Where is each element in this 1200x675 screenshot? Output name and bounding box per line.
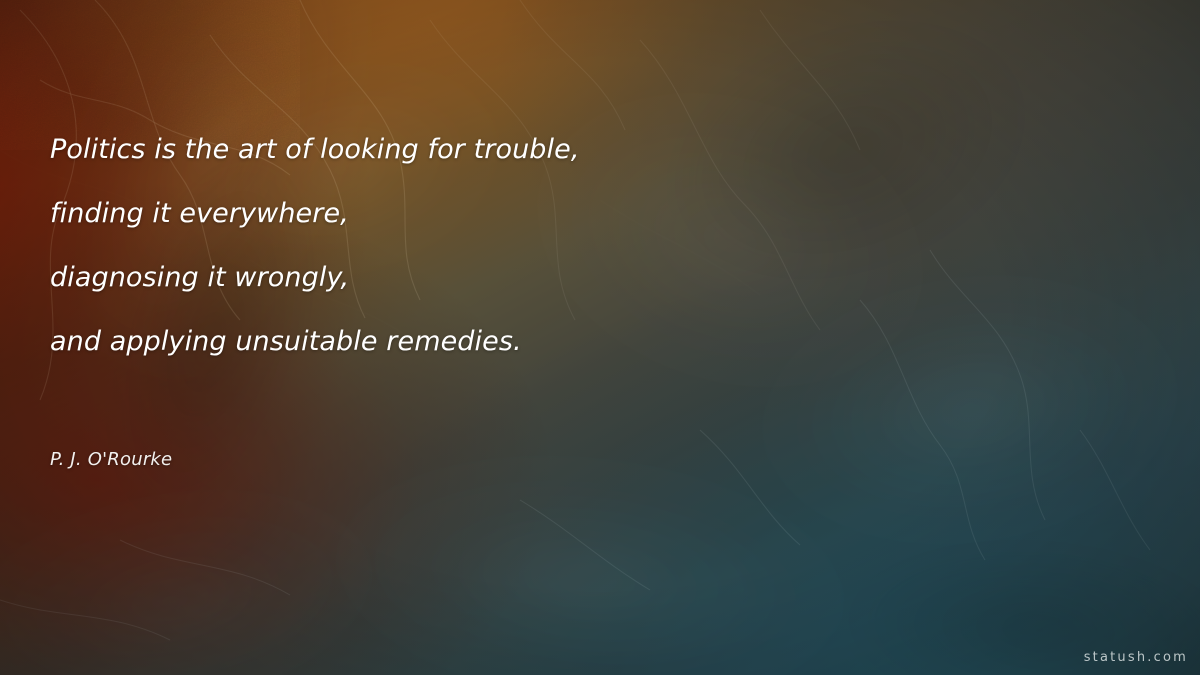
quote-card: Politics is the art of looking for troub… — [0, 0, 1200, 675]
quote-line-2: finding it everywhere, — [50, 182, 1050, 246]
quote-author: P. J. O'Rourke — [50, 449, 172, 470]
quote-line-3: diagnosing it wrongly, — [50, 246, 1050, 310]
quote-text: Politics is the art of looking for troub… — [50, 118, 1050, 374]
quote-line-4: and applying unsuitable remedies. — [50, 310, 1050, 374]
card-content: Politics is the art of looking for troub… — [0, 0, 1200, 675]
site-watermark: statush.com — [1084, 650, 1188, 665]
quote-line-1: Politics is the art of looking for troub… — [50, 118, 1050, 182]
